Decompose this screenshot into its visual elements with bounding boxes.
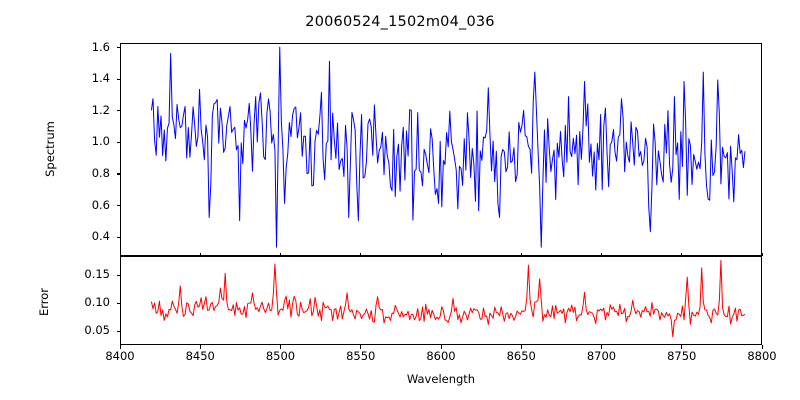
y-axis-tick-label-error: 0.10: [64, 295, 110, 309]
y-axis-tick-label-spectrum: 1.6: [64, 40, 110, 54]
spectrum-plot-area: [121, 44, 761, 255]
y-axis-tick-spectrum: [117, 79, 121, 80]
x-axis-tick-label: 8600: [411, 349, 471, 363]
x-axis-tick: [762, 345, 763, 349]
x-axis-tick: [601, 345, 602, 349]
y-axis-tick-spectrum: [117, 205, 121, 206]
x-axis-tick: [120, 345, 121, 349]
y-axis-tick-label-error: 0.05: [64, 323, 110, 337]
x-axis-tick-upper: [120, 253, 121, 257]
x-axis-tick-label: 8550: [331, 349, 391, 363]
x-axis-tick-label: 8650: [491, 349, 551, 363]
x-axis-tick-upper: [280, 253, 281, 257]
error-line: [151, 260, 745, 337]
x-axis-tick-upper: [521, 253, 522, 257]
spectrum-panel: [120, 43, 762, 256]
y-axis-tick-label-spectrum: 0.4: [64, 229, 110, 243]
x-axis-tick-label: 8750: [652, 349, 712, 363]
x-axis-tick: [200, 345, 201, 349]
y-axis-tick-spectrum: [117, 173, 121, 174]
x-axis-tick-upper: [762, 253, 763, 257]
y-axis-tick-spectrum: [117, 142, 121, 143]
x-axis-tick-upper: [441, 253, 442, 257]
error-panel: [120, 256, 762, 345]
x-axis-tick-label: 8500: [251, 349, 311, 363]
x-axis-tick-label: 8700: [572, 349, 632, 363]
y-axis-tick-label-error: 0.15: [64, 267, 110, 281]
x-axis-tick: [441, 345, 442, 349]
x-axis-tick-upper: [601, 253, 602, 257]
x-axis-label: Wavelength: [120, 372, 762, 386]
plot-title: 20060524_1502m04_036: [0, 14, 800, 30]
x-axis-tick: [521, 345, 522, 349]
x-axis-tick-upper: [681, 253, 682, 257]
y-axis-tick-spectrum: [117, 237, 121, 238]
y-axis-tick-error: [117, 275, 121, 276]
x-axis-tick-upper: [200, 253, 201, 257]
x-axis-tick-label: 8400: [90, 349, 150, 363]
error-plot-area: [121, 257, 761, 344]
y-axis-label-spectrum: Spectrum: [43, 94, 57, 204]
x-axis-tick-label: 8450: [170, 349, 230, 363]
y-axis-tick-label-spectrum: 0.8: [64, 166, 110, 180]
y-axis-label-error: Error: [37, 262, 51, 342]
y-axis-tick-spectrum: [117, 47, 121, 48]
x-axis-tick: [360, 345, 361, 349]
y-axis-tick-error: [117, 331, 121, 332]
y-axis-tick-error: [117, 303, 121, 304]
x-axis-tick-label: 8800: [732, 349, 792, 363]
figure-canvas: 20060524_1502m04_036 Spectrum Error 8400…: [0, 0, 800, 400]
spectrum-line: [151, 47, 745, 247]
y-axis-tick-label-spectrum: 1.2: [64, 103, 110, 117]
y-axis-tick-label-spectrum: 1.4: [64, 71, 110, 85]
y-axis-tick-label-spectrum: 0.6: [64, 198, 110, 212]
y-axis-tick-spectrum: [117, 110, 121, 111]
x-axis-tick: [681, 345, 682, 349]
x-axis-tick: [280, 345, 281, 349]
x-axis-tick-upper: [360, 253, 361, 257]
y-axis-tick-label-spectrum: 1.0: [64, 134, 110, 148]
